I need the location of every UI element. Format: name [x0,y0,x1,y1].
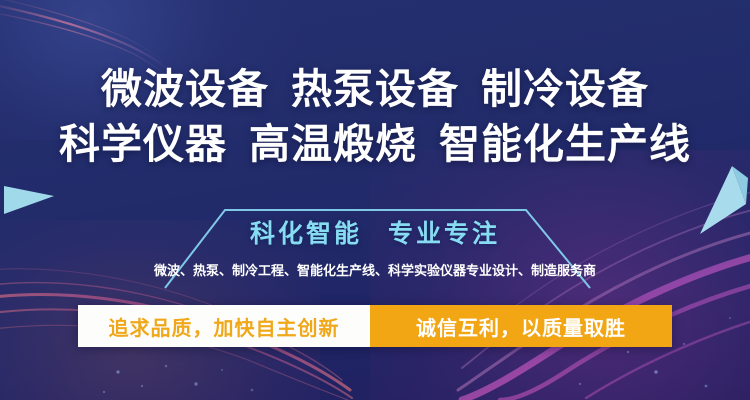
tagline-text: 微波、热泵、制冷工程、智能化生产线、科学实验仪器专业设计、制造服务商 [0,260,750,279]
slogan-right: 诚信互利，以质量取胜 [370,305,672,347]
subhead-text: 科化智能专业专注 [0,214,750,250]
headline-word-heatpump: 热泵设备 [291,66,459,112]
headline-word-microwave: 微波设备 [101,66,269,112]
slogan-left: 追求品质，加快自主创新 [78,305,370,347]
slogan-ribbon: 追求品质，加快自主创新 诚信互利，以质量取胜 [78,305,672,347]
subhead-left: 科化智能 [250,220,362,248]
trapezoid-block: 科化智能专业专注 微波、热泵、制冷工程、智能化生产线、科学实验仪器专业设计、制造… [0,198,750,290]
subhead-right: 专业专注 [388,220,500,248]
promo-banner: 微波设备热泵设备制冷设备 科学仪器高温煅烧智能化生产线 科化智能专业专注 微波、… [0,0,750,400]
headline-word-instruments: 科学仪器 [59,121,227,167]
headline-word-refrigeration: 制冷设备 [481,66,649,112]
headline-block: 微波设备热泵设备制冷设备 科学仪器高温煅烧智能化生产线 [0,62,750,172]
headline-line-1: 微波设备热泵设备制冷设备 [0,62,750,117]
headline-line-2: 科学仪器高温煅烧智能化生产线 [0,117,750,172]
headline-word-calcination: 高温煅烧 [249,121,417,167]
headline-word-production-line: 智能化生产线 [439,121,691,167]
